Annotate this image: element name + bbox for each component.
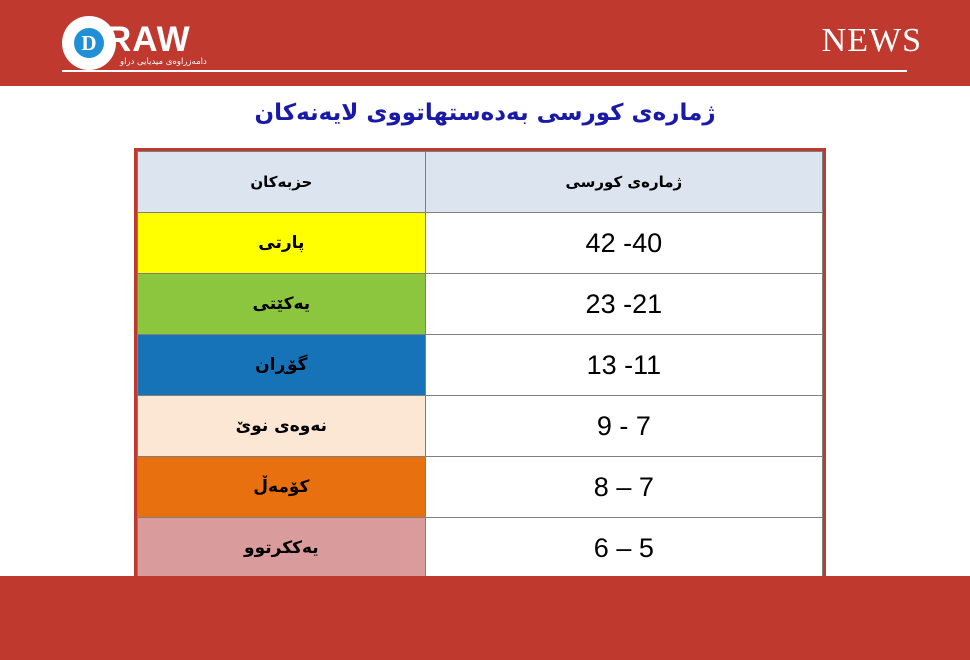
party-name: یەککرتوو — [138, 518, 426, 579]
column-header-seats: ژمارەی کورسی — [425, 152, 822, 213]
table-row: 7 - 9 نەوەی نوێ — [138, 396, 823, 457]
header-divider — [62, 70, 907, 72]
bottom-banner — [0, 576, 970, 660]
seats-value: 11- 13 — [425, 335, 822, 396]
seats-value: 21- 23 — [425, 274, 822, 335]
logo-subtitle: دامەزراوەی میدیایی دراو — [120, 57, 207, 67]
party-name: نەوەی نوێ — [138, 396, 426, 457]
table-header-row: ژمارەی کورسی حزبەکان — [138, 152, 823, 213]
seats-value: 5 – 6 — [425, 518, 822, 579]
table-row: 5 – 6 یەککرتوو — [138, 518, 823, 579]
seats-value: 7 - 9 — [425, 396, 822, 457]
column-header-party: حزبەکان — [138, 152, 426, 213]
seats-value: 7 – 8 — [425, 457, 822, 518]
party-name: پارتی — [138, 213, 426, 274]
table-row: 7 – 8 کۆمەڵ — [138, 457, 823, 518]
table-row: 40- 42 پارتی — [138, 213, 823, 274]
logo-wordmark: RAW — [106, 20, 191, 60]
party-name: یەکێتی — [138, 274, 426, 335]
table-row: 11- 13 گۆڕان — [138, 335, 823, 396]
party-name: کۆمەڵ — [138, 457, 426, 518]
logo-letter: D — [74, 28, 104, 58]
news-label: NEWS — [822, 22, 922, 60]
party-name: گۆڕان — [138, 335, 426, 396]
seats-table-container: ژمارەی کورسی حزبەکان 40- 42 پارتی 21- 23… — [134, 148, 826, 582]
seats-value: 40- 42 — [425, 213, 822, 274]
seats-table: ژمارەی کورسی حزبەکان 40- 42 پارتی 21- 23… — [137, 151, 823, 579]
draw-logo: D RAW دامەزراوەی میدیایی دراو — [62, 12, 252, 74]
top-banner: D RAW دامەزراوەی میدیایی دراو NEWS — [0, 0, 970, 86]
page-title: ژمارەی کورسی بەدەستهاتووی لایەنەکان — [0, 100, 970, 126]
table-body: 40- 42 پارتی 21- 23 یەکێتی 11- 13 گۆڕان … — [138, 213, 823, 579]
table-row: 21- 23 یەکێتی — [138, 274, 823, 335]
